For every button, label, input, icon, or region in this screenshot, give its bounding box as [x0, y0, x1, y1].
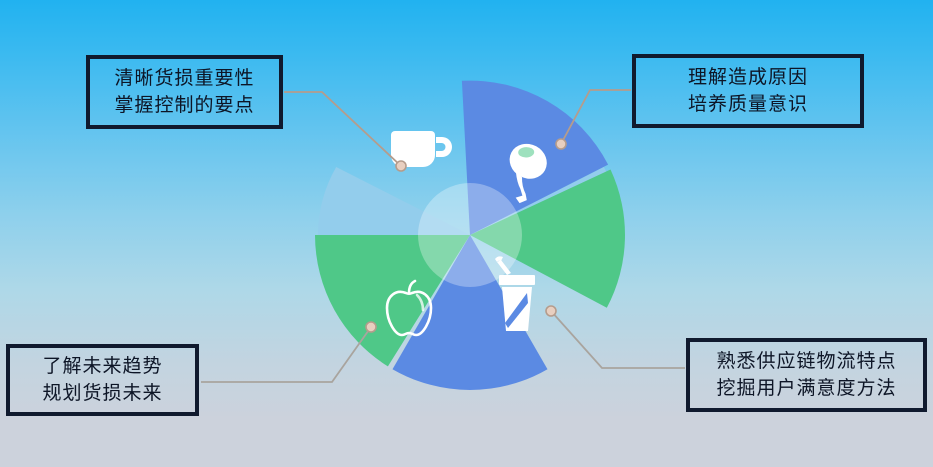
callout-bottom-right-line2: 挖掘用户满意度方法: [716, 375, 896, 402]
callout-bottom-right-line1: 熟悉供应链物流特点: [716, 348, 896, 375]
callout-bottom-right[interactable]: 熟悉供应链物流特点 挖掘用户满意度方法: [686, 338, 927, 412]
callout-bottom-left-line2: 规划货损未来: [42, 380, 162, 407]
callout-bottom-left-line1: 了解未来趋势: [42, 353, 162, 380]
callout-top-right-line1: 理解造成原因: [688, 64, 808, 91]
coffee-cup-icon: [391, 131, 452, 167]
callout-top-left-line1: 清晰货损重要性: [114, 65, 254, 92]
callout-bottom-left[interactable]: 了解未来趋势 规划货损未来: [6, 344, 199, 416]
callout-top-left-line2: 掌握控制的要点: [114, 92, 254, 119]
callout-top-right[interactable]: 理解造成原因 培养质量意识: [632, 54, 864, 128]
infographic-canvas: 清晰货损重要性 掌握控制的要点 理解造成原因 培养质量意识 了解未来趋势 规划货…: [0, 0, 933, 467]
callout-top-right-line2: 培养质量意识: [688, 91, 808, 118]
callout-top-left[interactable]: 清晰货损重要性 掌握控制的要点: [86, 55, 283, 129]
